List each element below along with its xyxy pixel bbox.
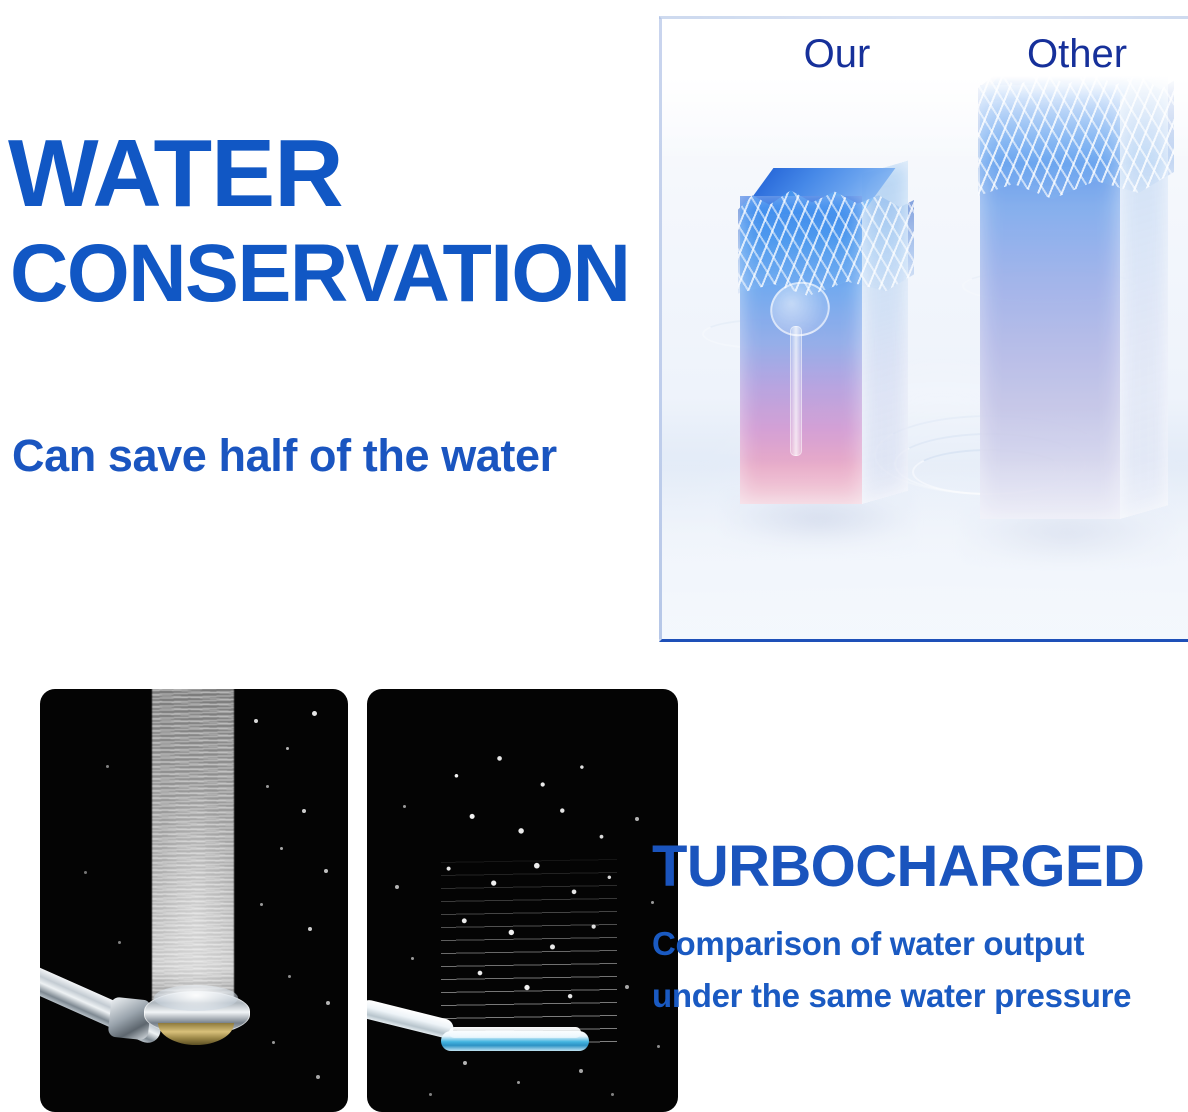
label-other: Other <box>962 31 1188 77</box>
water-droplet <box>308 927 312 931</box>
water-droplet <box>84 871 87 874</box>
water-droplet <box>326 1001 330 1005</box>
turbocharged-body-line-1: Comparison of water output <box>652 924 1084 964</box>
water-droplet <box>429 1093 432 1096</box>
water-droplet <box>260 903 263 906</box>
other-ice-block-side-face <box>1120 45 1168 519</box>
thin-water-streaks <box>441 857 617 1043</box>
label-our: Our <box>722 31 952 77</box>
water-droplet <box>316 1075 320 1079</box>
water-droplet <box>611 1093 614 1096</box>
showerhead-nozzle-face <box>154 985 238 1011</box>
turbocharged-body-line-2: under the same water pressure <box>652 976 1131 1016</box>
water-droplet <box>266 785 269 788</box>
water-droplet <box>280 847 283 850</box>
other-ice-block <box>980 59 1120 519</box>
our-ice-block-side-face <box>862 161 908 504</box>
showerhead-stem <box>790 326 802 456</box>
headline-turbocharged: TURBOCHARGED <box>652 838 1144 896</box>
water-droplet <box>286 747 289 750</box>
headline-water: WATER <box>8 126 343 222</box>
water-droplet <box>517 1081 520 1084</box>
showerhead-brass-base <box>158 1023 234 1045</box>
water-droplet <box>106 765 109 768</box>
headline-conservation: CONSERVATION <box>10 233 630 315</box>
chrome-showerhead <box>144 983 248 1049</box>
water-conservation-text-block: WATER CONSERVATION Can save half of the … <box>0 0 620 640</box>
water-droplet <box>254 719 258 723</box>
ice-block-comparison-panel: Our Other <box>659 16 1188 642</box>
water-droplet <box>312 711 317 716</box>
water-droplet <box>635 817 639 821</box>
water-droplet <box>579 1069 583 1073</box>
showerhead-white-face <box>449 1027 581 1038</box>
dense-water-jet <box>152 689 234 1007</box>
water-droplet <box>324 869 328 873</box>
other-ice-block-front-face <box>980 85 1120 519</box>
water-droplet <box>411 957 414 960</box>
water-droplet <box>302 809 306 813</box>
water-droplet <box>403 805 406 808</box>
embedded-showerhead-icon <box>766 282 828 462</box>
photo-weak-spray <box>367 689 678 1112</box>
photo-strong-spray <box>40 689 348 1112</box>
water-droplet <box>625 985 629 989</box>
water-droplet <box>288 975 291 978</box>
blue-showerhead <box>441 1027 589 1053</box>
water-droplet <box>395 885 399 889</box>
water-droplet <box>272 1041 275 1044</box>
water-droplet <box>463 1061 467 1065</box>
subheadline-save-half-water: Can save half of the water <box>12 431 557 481</box>
water-droplet <box>118 941 121 944</box>
our-ice-block <box>740 174 862 504</box>
turbocharged-text-block: TURBOCHARGED Comparison of water output … <box>650 673 1188 1105</box>
